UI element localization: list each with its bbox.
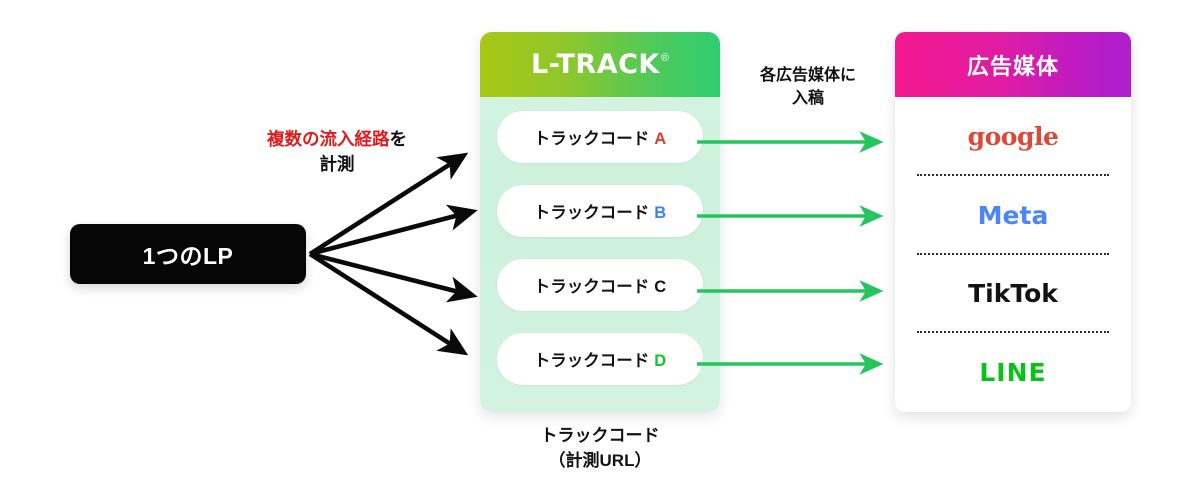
track-code-letter: B: [654, 204, 666, 222]
ad-media-name: LINE: [979, 358, 1046, 387]
ad-media-panel-title: 広告媒体: [967, 49, 1059, 81]
flow-note-tail: を: [390, 129, 408, 149]
track-code-label: トラックコード: [534, 278, 650, 296]
track-code-label: トラックコード: [534, 352, 650, 370]
track-code-card[interactable]: トラックコードB: [497, 185, 703, 237]
track-code-card-text: トラックコードB: [534, 199, 666, 223]
track-code-list: トラックコードA トラックコードB トラックコードC トラックコードD: [480, 97, 720, 385]
track-code-letter: C: [654, 278, 666, 296]
flow-note-line2: 計測: [232, 152, 442, 177]
ad-media-row[interactable]: TikTok: [895, 255, 1131, 334]
flow-note-highlight: 複数の流入経路: [267, 129, 390, 149]
flow-note-line1: 複数の流入経路を: [232, 127, 442, 152]
flow-note: 複数の流入経路を 計測: [232, 127, 442, 177]
fan-arrow-3: [310, 254, 459, 292]
track-code-card[interactable]: トラックコードA: [497, 111, 703, 163]
ad-media-name: google: [968, 122, 1059, 151]
track-code-card-text: トラックコードA: [534, 125, 666, 149]
track-code-label: トラックコード: [534, 130, 650, 148]
fan-arrow-2: [310, 215, 459, 254]
track-code-letter: D: [654, 352, 666, 370]
registered-trademark-icon: ®: [661, 53, 669, 64]
track-code-panel: L-TRACK ® トラックコードA トラックコードB トラックコードC トラッ…: [480, 32, 720, 412]
ad-media-row[interactable]: LINE: [895, 333, 1131, 412]
ad-media-row[interactable]: Meta: [895, 176, 1131, 255]
track-code-label: トラックコード: [534, 204, 650, 222]
ltrack-logo: L-TRACK ®: [531, 51, 669, 78]
track-code-card-text: トラックコードC: [534, 273, 666, 297]
deliver-note-line1: 各広告媒体に: [723, 64, 893, 87]
ad-media-list: google Meta TikTok LINE: [895, 97, 1131, 412]
ad-media-panel: 広告媒体 google Meta TikTok LINE: [895, 32, 1131, 412]
ad-media-name: Meta: [978, 201, 1049, 230]
track-code-letter: A: [654, 130, 666, 148]
lp-box: 1つのLP: [70, 224, 306, 284]
track-panel-caption: トラックコード （計測URL）: [470, 424, 730, 473]
deliver-note: 各広告媒体に 入稿: [723, 64, 893, 110]
deliver-note-line2: 入稿: [723, 87, 893, 110]
ad-media-panel-header: 広告媒体: [895, 32, 1131, 97]
ad-media-name: TikTok: [968, 279, 1058, 308]
track-panel-header: L-TRACK ®: [480, 32, 720, 97]
track-caption-line2: （計測URL）: [470, 449, 730, 474]
track-code-card[interactable]: トラックコードD: [497, 333, 703, 385]
diagram-canvas: 1つのLP 複数の流入経路を 計測 L-TRACK ® トラッ: [0, 0, 1200, 500]
track-caption-line1: トラックコード: [470, 424, 730, 449]
ltrack-wordmark: L-TRACK: [531, 51, 660, 78]
lp-box-label: 1つのLP: [143, 237, 234, 271]
track-code-card[interactable]: トラックコードC: [497, 259, 703, 311]
ad-media-row[interactable]: google: [895, 97, 1131, 176]
track-code-card-text: トラックコードD: [534, 347, 666, 371]
fan-arrow-4: [310, 254, 452, 345]
